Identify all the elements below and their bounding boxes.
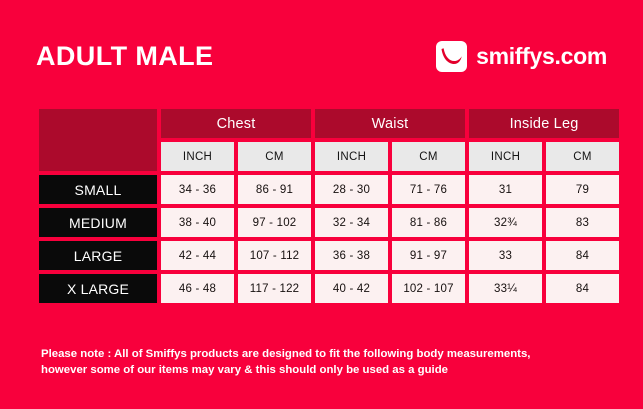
cell-medium-waist-cm: 81 - 86 xyxy=(392,208,465,237)
size-chart-page: ADULT MALE smiffys.com Chest Waist Insid… xyxy=(0,0,643,409)
cell-x-large-waist-inch: 40 - 42 xyxy=(315,274,388,303)
cell-large-inside-leg-inch: 33 xyxy=(469,241,542,270)
cell-small-inside-leg-inch: 31 xyxy=(469,175,542,204)
table-row: SMALL 34 - 36 86 - 91 28 - 30 71 - 76 31… xyxy=(39,175,619,204)
cell-large-waist-inch: 36 - 38 xyxy=(315,241,388,270)
unit-header-chest-cm: CM xyxy=(238,142,311,171)
page-header: ADULT MALE smiffys.com xyxy=(36,33,607,79)
cell-large-inside-leg-cm: 84 xyxy=(546,241,619,270)
footnote-line-2: however some of our items may vary & thi… xyxy=(41,363,601,379)
cell-large-chest-cm: 107 - 112 xyxy=(238,241,311,270)
brand-logo: smiffys.com xyxy=(436,41,607,72)
cell-x-large-inside-leg-cm: 84 xyxy=(546,274,619,303)
table-row: X LARGE 46 - 48 117 - 122 40 - 42 102 - … xyxy=(39,274,619,303)
cell-small-waist-inch: 28 - 30 xyxy=(315,175,388,204)
row-label-medium: MEDIUM xyxy=(39,208,157,237)
smile-icon xyxy=(436,41,467,72)
cell-medium-chest-inch: 38 - 40 xyxy=(161,208,234,237)
row-label-small: SMALL xyxy=(39,175,157,204)
column-group-inside-leg: Inside Leg xyxy=(469,109,619,138)
column-group-waist: Waist xyxy=(315,109,465,138)
cell-large-waist-cm: 91 - 97 xyxy=(392,241,465,270)
table-row: LARGE 42 - 44 107 - 112 36 - 38 91 - 97 … xyxy=(39,241,619,270)
unit-header-chest-inch: INCH xyxy=(161,142,234,171)
unit-header-waist-cm: CM xyxy=(392,142,465,171)
unit-header-waist-inch: INCH xyxy=(315,142,388,171)
row-label-large: LARGE xyxy=(39,241,157,270)
cell-medium-waist-inch: 32 - 34 xyxy=(315,208,388,237)
corner-cell xyxy=(39,109,157,171)
row-label-x-large: X LARGE xyxy=(39,274,157,303)
cell-x-large-inside-leg-inch: 33¼ xyxy=(469,274,542,303)
cell-small-inside-leg-cm: 79 xyxy=(546,175,619,204)
unit-header-inside-leg-inch: INCH xyxy=(469,142,542,171)
footnote: Please note : All of Smiffys products ar… xyxy=(41,347,601,378)
cell-medium-inside-leg-cm: 83 xyxy=(546,208,619,237)
column-group-chest: Chest xyxy=(161,109,311,138)
cell-x-large-chest-inch: 46 - 48 xyxy=(161,274,234,303)
cell-medium-chest-cm: 97 - 102 xyxy=(238,208,311,237)
table-group-header-row: Chest Waist Inside Leg xyxy=(39,109,619,138)
footnote-line-1: Please note : All of Smiffys products ar… xyxy=(41,347,601,363)
cell-small-chest-cm: 86 - 91 xyxy=(238,175,311,204)
cell-x-large-waist-cm: 102 - 107 xyxy=(392,274,465,303)
cell-large-chest-inch: 42 - 44 xyxy=(161,241,234,270)
page-title: ADULT MALE xyxy=(36,43,213,70)
unit-header-inside-leg-cm: CM xyxy=(546,142,619,171)
cell-medium-inside-leg-inch: 32¾ xyxy=(469,208,542,237)
brand-name: smiffys.com xyxy=(476,45,607,68)
cell-small-waist-cm: 71 - 76 xyxy=(392,175,465,204)
size-chart-table: Chest Waist Inside Leg INCH CM INCH CM I… xyxy=(35,105,623,307)
table-row: MEDIUM 38 - 40 97 - 102 32 - 34 81 - 86 … xyxy=(39,208,619,237)
cell-small-chest-inch: 34 - 36 xyxy=(161,175,234,204)
cell-x-large-chest-cm: 117 - 122 xyxy=(238,274,311,303)
